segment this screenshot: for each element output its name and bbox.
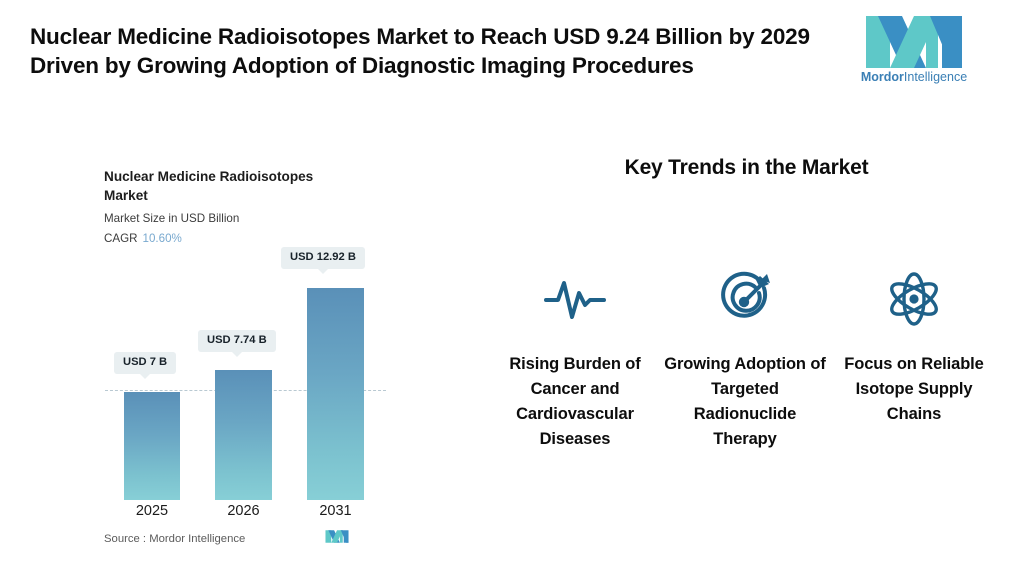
chart-title: Nuclear Medicine Radioisotopes Market [104,167,354,205]
page-title: Nuclear Medicine Radioisotopes Market to… [30,22,830,80]
bar-value-label-2031: USD 12.92 B [281,247,365,269]
trend-label-1: Rising Burden of Cancer and Cardiovascul… [490,352,660,452]
atom-icon [885,271,943,327]
x-axis-label-2025: 2025 [124,503,180,519]
target-icon [717,271,773,327]
chart-source: Source : Mordor Intelligence [104,533,245,545]
bar-2031 [307,288,364,500]
key-trends-section: Key Trends in the Market Rising Burden o… [460,148,1033,548]
trend-item-1: Rising Burden of Cancer and Cardiovascul… [490,268,660,452]
atom-icon-wrapper [829,268,999,330]
trend-label-2: Growing Adoption of Targeted Radionuclid… [660,352,830,452]
x-axis-label-2026: 2026 [215,503,272,519]
x-axis-label-2031: 2031 [307,503,364,519]
bar-value-label-2026: USD 7.74 B [198,330,276,352]
bar-2025 [124,392,180,500]
logo-word-intelligence: Intelligence [904,70,967,84]
header: Nuclear Medicine Radioisotopes Market to… [0,0,1033,120]
bar-2026 [215,370,272,500]
target-icon-wrapper [660,268,830,330]
bar-value-label-2025: USD 7 B [114,352,176,374]
pulse-icon [544,275,606,323]
trend-item-3: Focus on Reliable Isotope Supply Chains [829,268,999,427]
mordor-logo-wordmark: MordorIntelligence [858,70,970,84]
cagr-label: CAGR [104,232,138,245]
mordor-intelligence-mark [325,529,349,544]
cagr-value: 10.60% [143,232,182,245]
trend-item-2: Growing Adoption of Targeted Radionuclid… [660,268,830,452]
key-trends-title: Key Trends in the Market [460,156,1033,180]
chart-cagr: CAGR10.60% [104,232,182,245]
trend-label-3: Focus on Reliable Isotope Supply Chains [829,352,999,427]
pulse-icon-wrapper [490,268,660,330]
logo-word-mordor: Mordor [861,70,904,84]
chart-subtitle: Market Size in USD Billion [104,212,239,225]
mordor-logo-mark [864,16,964,68]
mordor-intelligence-logo: MordorIntelligence [858,16,970,88]
market-size-chart: Nuclear Medicine Radioisotopes Market Ma… [86,150,416,560]
chart-plot-area: USD 7 B USD 7.74 B USD 12.92 B 2025 2026… [86,250,416,500]
